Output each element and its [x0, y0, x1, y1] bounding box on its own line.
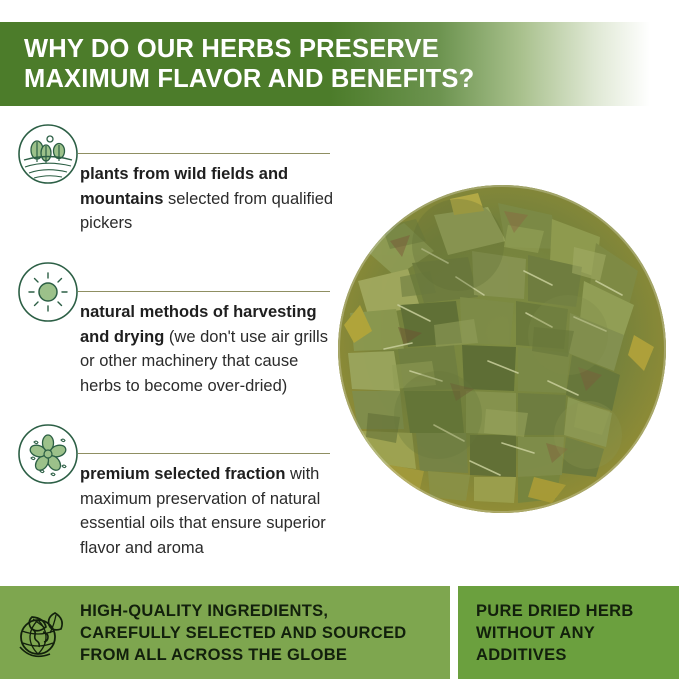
- feature-item-natural-drying: natural methods of harvesting and drying…: [0, 256, 352, 412]
- feature-divider: [78, 153, 330, 154]
- feature-divider: [78, 291, 330, 292]
- feature-divider: [78, 453, 330, 454]
- feature-text-bold: premium selected fraction: [80, 465, 285, 483]
- field-plants-icon: [16, 122, 80, 186]
- feature-list: plants from wild fields and mountains se…: [0, 118, 352, 584]
- footer-right-text: PURE DRIED HERB WITHOUT ANY ADDITIVES: [476, 600, 634, 666]
- footer-panel-quality: HIGH-QUALITY INGREDIENTS, CAREFULLY SELE…: [0, 586, 450, 679]
- page-title: WHY DO OUR HERBS PRESERVE MAXIMUM FLAVOR…: [0, 34, 474, 94]
- header-banner: WHY DO OUR HERBS PRESERVE MAXIMUM FLAVOR…: [0, 22, 679, 106]
- dried-herb-leaves-circle: [338, 185, 666, 513]
- sun-drying-icon: [16, 260, 80, 324]
- feature-item-wild-fields: plants from wild fields and mountains se…: [0, 118, 352, 250]
- footer-left-text: HIGH-QUALITY INGREDIENTS, CAREFULLY SELE…: [80, 600, 407, 666]
- footer-panel-pure-herb: PURE DRIED HERB WITHOUT ANY ADDITIVES: [458, 586, 679, 679]
- feature-item-premium-fraction: premium selected fraction with maximum p…: [0, 418, 352, 578]
- leaf-flower-icon: [16, 422, 80, 486]
- globe-leaf-icon: [12, 603, 72, 663]
